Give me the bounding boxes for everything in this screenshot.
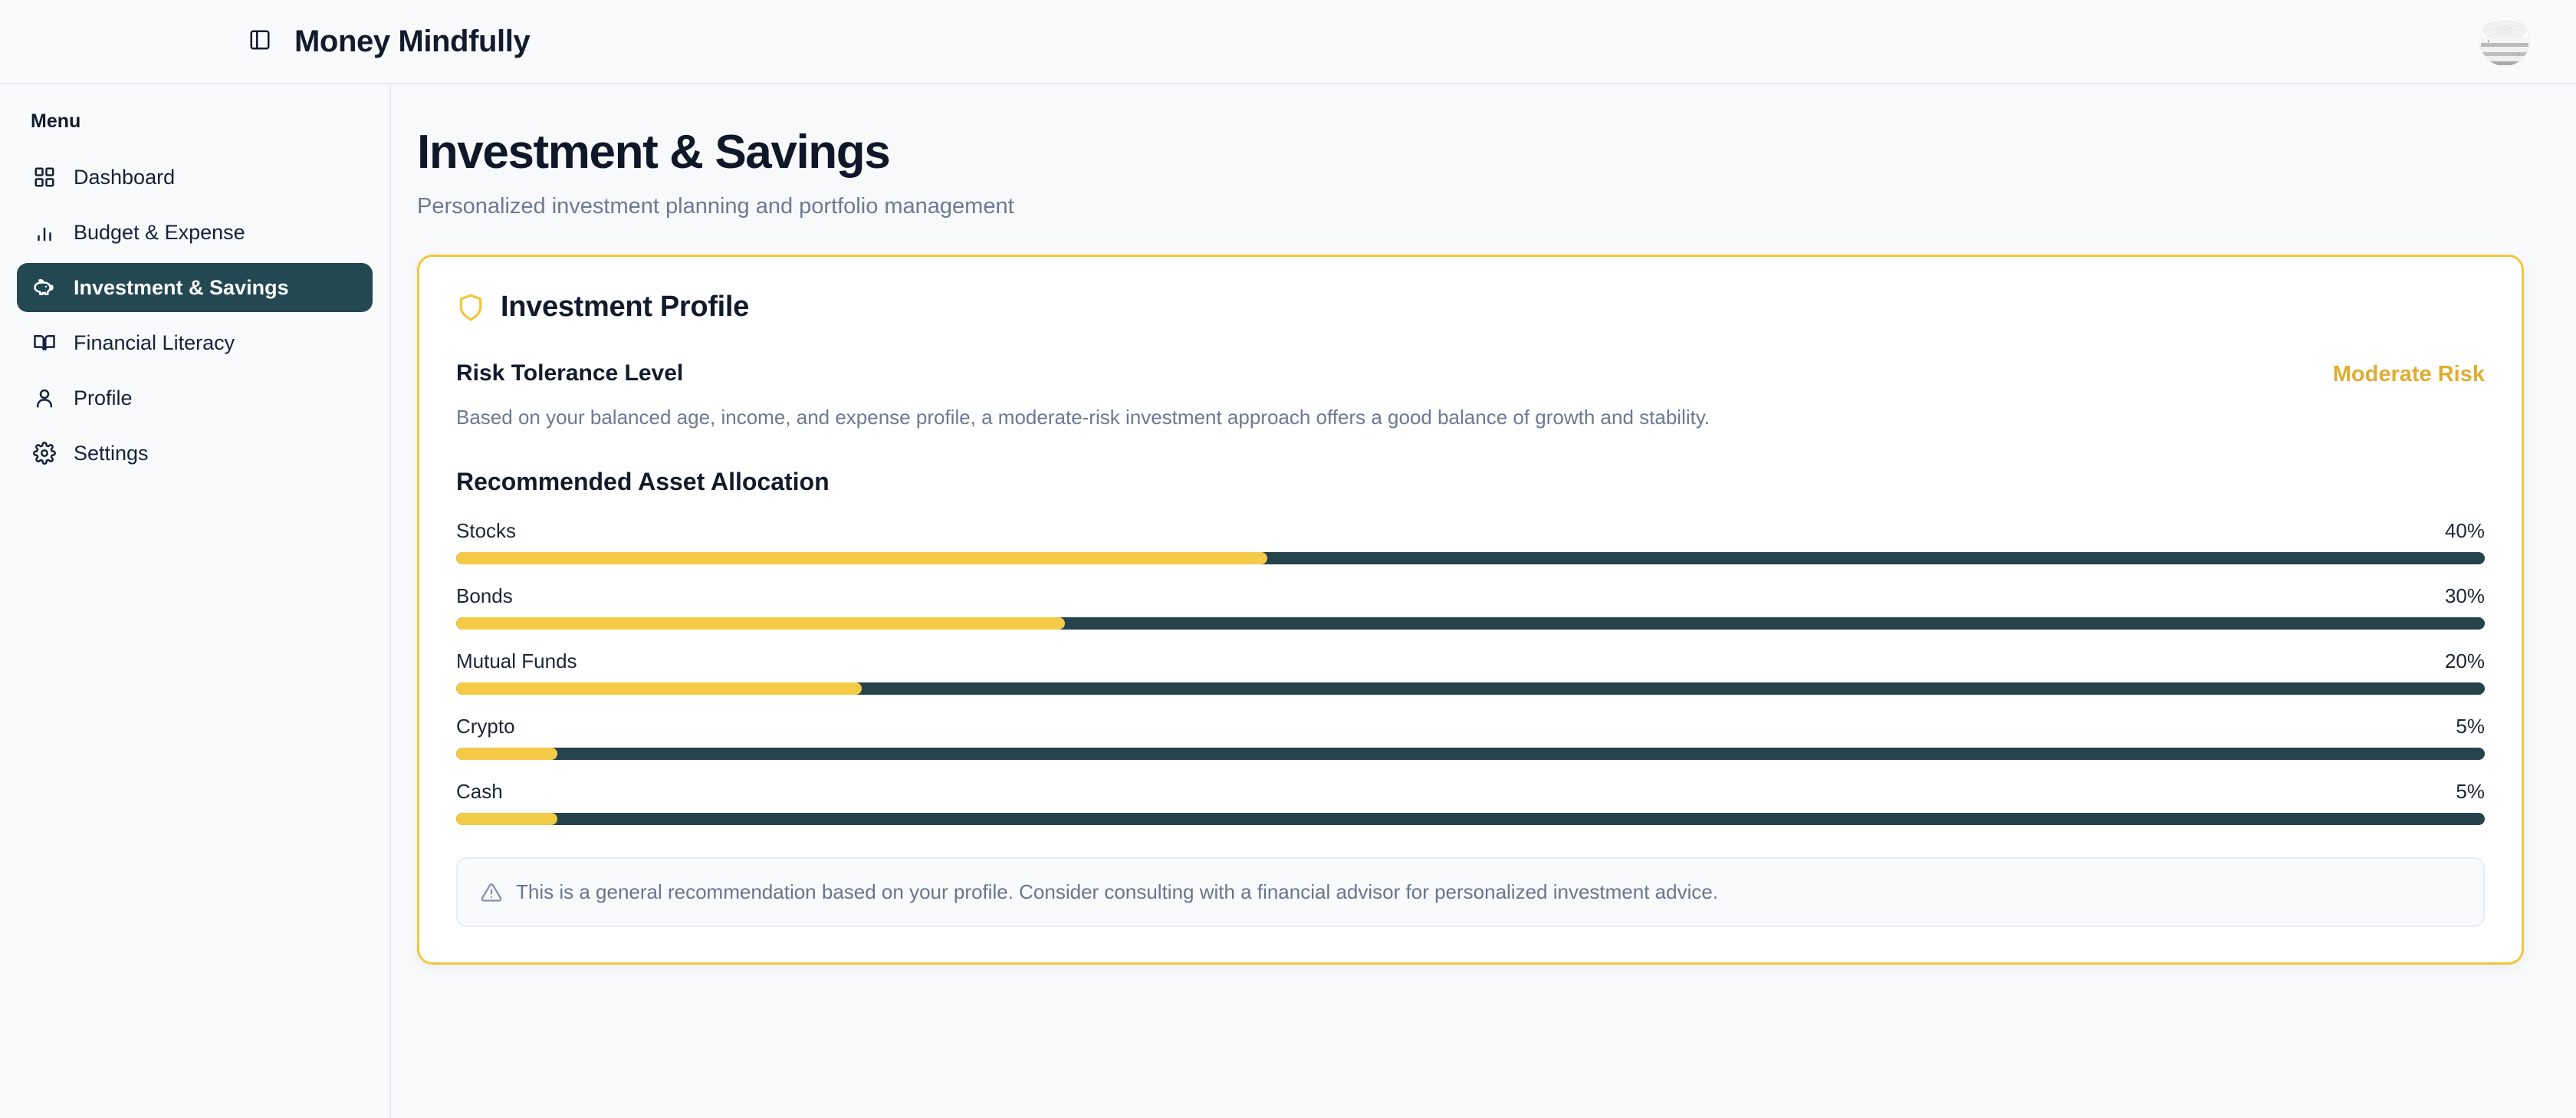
piggy-bank-icon	[32, 275, 57, 300]
allocation-label: Stocks	[456, 519, 516, 543]
sidebar-item-label: Dashboard	[74, 166, 175, 189]
app-shell: Menu Dashboard Budget & Expense	[0, 84, 2576, 1118]
main-content: Investment & Savings Personalized invest…	[391, 84, 2576, 1118]
allocation-fill	[456, 682, 862, 695]
allocation-label: Crypto	[456, 715, 515, 738]
grid-icon	[32, 165, 57, 189]
allocation-value: 20%	[2445, 649, 2485, 673]
allocation-value: 5%	[2456, 715, 2485, 738]
app-title: Money Mindfully	[294, 25, 530, 59]
allocation-value: 40%	[2445, 519, 2485, 543]
allocation-label: Bonds	[456, 584, 513, 608]
allocation-label: Mutual Funds	[456, 649, 577, 673]
risk-tolerance-row: Risk Tolerance Level Moderate Risk	[456, 360, 2485, 387]
allocation-fill	[456, 748, 557, 760]
sidebar-item-label: Settings	[74, 442, 149, 465]
page-title: Investment & Savings	[417, 127, 2524, 177]
sidebar-toggle-button[interactable]	[244, 25, 276, 58]
sidebar-item-dashboard[interactable]: Dashboard	[17, 153, 373, 202]
top-bar: Money Mindfully	[0, 0, 2576, 84]
page-subtitle: Personalized investment planning and por…	[417, 194, 2524, 219]
allocation-fill	[456, 813, 557, 825]
allocation-row: Mutual Funds 20%	[456, 649, 2485, 695]
shield-icon	[456, 293, 485, 322]
book-open-icon	[32, 330, 57, 355]
disclaimer-text: This is a general recommendation based o…	[516, 880, 1718, 904]
sidebar-item-label: Investment & Savings	[74, 276, 289, 300]
allocation-track	[456, 617, 2485, 630]
user-icon	[32, 386, 57, 410]
investment-profile-card: Investment Profile Risk Tolerance Level …	[417, 255, 2524, 965]
card-header: Investment Profile	[456, 291, 2485, 324]
allocation-row: Cash 5%	[456, 780, 2485, 825]
panel-left-icon	[248, 28, 271, 55]
allocation-row: Bonds 30%	[456, 584, 2485, 630]
allocation-label: Cash	[456, 780, 503, 804]
risk-tolerance-heading: Risk Tolerance Level	[456, 360, 683, 386]
sidebar-item-profile[interactable]: Profile	[17, 373, 373, 423]
asset-allocation-chart: Stocks 40% Bonds 30%	[456, 519, 2485, 825]
gear-icon	[32, 441, 57, 465]
risk-level-badge: Moderate Risk	[2333, 362, 2485, 387]
allocation-track	[456, 552, 2485, 564]
allocation-value: 5%	[2456, 780, 2485, 804]
allocation-row: Crypto 5%	[456, 715, 2485, 760]
allocation-track	[456, 748, 2485, 760]
sidebar: Menu Dashboard Budget & Expense	[0, 84, 391, 1118]
allocation-fill	[456, 552, 1267, 564]
sidebar-item-label: Budget & Expense	[74, 221, 245, 245]
sidebar-item-settings[interactable]: Settings	[17, 429, 373, 478]
sidebar-item-financial-literacy[interactable]: Financial Literacy	[17, 318, 373, 367]
risk-tolerance-description: Based on your balanced age, income, and …	[456, 404, 2485, 431]
sidebar-item-budget-expense[interactable]: Budget & Expense	[17, 208, 373, 257]
allocation-track	[456, 813, 2485, 825]
bar-chart-icon	[32, 220, 57, 245]
user-avatar-image	[2479, 16, 2530, 67]
allocation-row: Stocks 40%	[456, 519, 2485, 564]
sidebar-item-label: Financial Literacy	[74, 331, 235, 355]
alert-triangle-icon	[481, 882, 502, 903]
allocation-fill	[456, 617, 1065, 630]
avatar[interactable]	[2479, 16, 2530, 67]
asset-allocation-heading: Recommended Asset Allocation	[456, 468, 2485, 496]
sidebar-section-label: Menu	[17, 110, 373, 133]
allocation-track	[456, 682, 2485, 695]
disclaimer-note: This is a general recommendation based o…	[456, 857, 2485, 927]
card-title: Investment Profile	[501, 291, 749, 324]
allocation-value: 30%	[2445, 584, 2485, 608]
sidebar-item-investment-savings[interactable]: Investment & Savings	[17, 263, 373, 312]
sidebar-item-label: Profile	[74, 386, 133, 410]
